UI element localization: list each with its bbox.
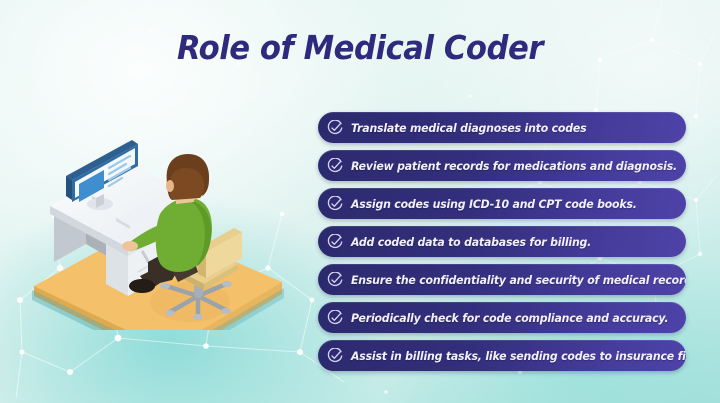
check-circle-icon [327,158,343,174]
person-ear [166,180,174,192]
list-item[interactable]: Assist in billing tasks, like sending co… [318,340,686,371]
list-item[interactable]: Assign codes using ICD-10 and CPT code b… [318,188,686,219]
list-item-label: Assign codes using ICD-10 and CPT code b… [351,197,637,211]
roles-list: Translate medical diagnoses into codes R… [318,112,686,371]
check-circle-icon [327,196,343,212]
check-circle-icon [327,120,343,136]
page-title: Role of Medical Coder [25,28,695,67]
list-item[interactable]: Add coded data to databases for billing. [318,226,686,257]
check-circle-icon [327,272,343,288]
list-item-label: Translate medical diagnoses into codes [351,121,586,135]
list-item[interactable]: Periodically check for code compliance a… [318,302,686,333]
list-item-label: Ensure the confidentiality and security … [351,273,686,287]
infographic-canvas: Role of Medical Coder [0,0,720,403]
check-circle-icon [327,310,343,326]
list-item[interactable]: Ensure the confidentiality and security … [318,264,686,295]
check-circle-icon [327,234,343,250]
person-hand [122,241,138,251]
list-item-label: Periodically check for code compliance a… [351,311,668,325]
person-shoe [129,279,155,293]
list-item[interactable]: Translate medical diagnoses into codes [318,112,686,143]
list-item-label: Add coded data to databases for billing. [351,235,591,249]
illustration-medical-coder-at-desk [20,100,300,330]
list-item[interactable]: Review patient records for medications a… [318,150,686,181]
list-item-label: Review patient records for medications a… [351,159,677,173]
list-item-label: Assist in billing tasks, like sending co… [351,349,686,363]
check-circle-icon [327,348,343,364]
